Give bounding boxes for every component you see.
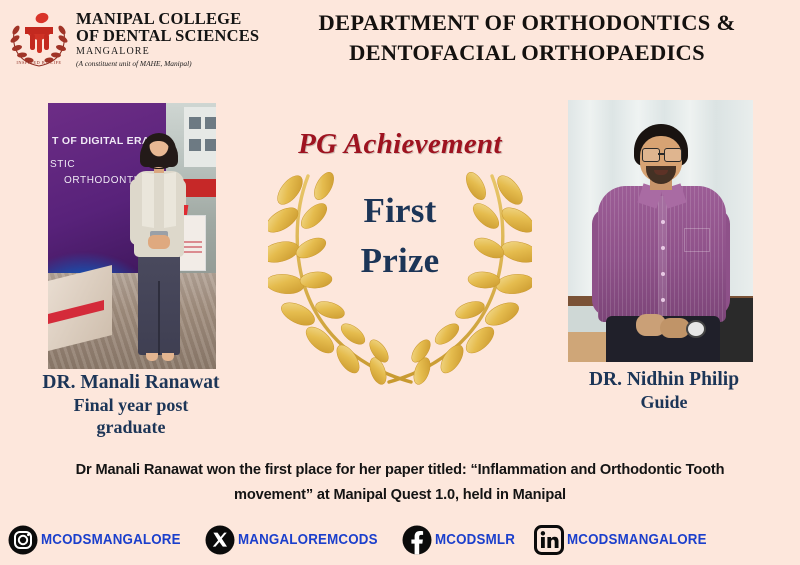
caption-right-name: DR. Nidhin Philip bbox=[528, 368, 800, 392]
person-shirt-button bbox=[661, 272, 665, 276]
description-line-1: Dr Manali Ranawat won the first place fo… bbox=[10, 458, 790, 483]
social-item-x-twitter[interactable]: MANGALOREMCODS bbox=[205, 525, 390, 555]
first-prize-label: First Prize bbox=[288, 186, 512, 285]
achievement-description: Dr Manali Ranawat won the first place fo… bbox=[10, 458, 790, 508]
instagram-icon[interactable] bbox=[8, 525, 38, 555]
linkedin-icon[interactable] bbox=[534, 525, 564, 555]
caption-right-role-line-1: Guide bbox=[528, 392, 800, 414]
person-foot-left bbox=[146, 353, 158, 361]
photo-person-nidhin bbox=[588, 124, 736, 362]
person-shirt-button bbox=[661, 298, 665, 302]
caption-left-name: DR. Manali Ranawat bbox=[0, 371, 262, 395]
caption-nidhin-philip: DR. Nidhin Philip Guide bbox=[528, 368, 800, 414]
manipal-crest-logo-icon: INSPIRED BY LIFE bbox=[8, 8, 70, 70]
eyeglasses-right-lens-icon bbox=[664, 148, 682, 162]
person-shirt-pocket bbox=[684, 228, 710, 252]
facebook-icon[interactable] bbox=[402, 525, 432, 555]
logo-line-4: (A constituent unit of MAHE, Manipal) bbox=[76, 59, 259, 69]
person-shirt-button bbox=[661, 246, 665, 250]
person-shirt-button bbox=[661, 220, 665, 224]
person-shirt-placket bbox=[658, 196, 667, 322]
photo-person-manali bbox=[120, 131, 196, 369]
poster-header: INSPIRED BY LIFE MANIPAL COLLEGE OF DENT… bbox=[0, 0, 800, 92]
wristwatch-icon bbox=[686, 320, 706, 338]
person-trouser-seam bbox=[158, 281, 160, 355]
person-hair-front bbox=[140, 137, 178, 167]
institution-name-text: MANIPAL COLLEGE OF DENTAL SCIENCES MANGA… bbox=[76, 6, 259, 69]
caption-left-role-line-1: Final year post bbox=[0, 395, 262, 417]
person-lapel-left bbox=[142, 172, 154, 228]
social-item-instagram[interactable]: MCODSMANGALORE bbox=[8, 525, 193, 555]
facebook-handle[interactable]: MCODSMLR bbox=[435, 532, 515, 548]
photo-nidhin-philip bbox=[568, 100, 753, 362]
pg-achievement-heading: PG Achievement bbox=[255, 128, 545, 161]
department-title: DEPARTMENT OF ORTHODONTICS & DENTOFACIAL… bbox=[262, 8, 792, 69]
institution-logo-block: INSPIRED BY LIFE MANIPAL COLLEGE OF DENT… bbox=[8, 6, 258, 84]
person-lapel-right bbox=[164, 172, 176, 228]
description-line-2: movement” at Manipal Quest 1.0, held in … bbox=[10, 483, 790, 508]
eyeglasses-left-lens-icon bbox=[642, 148, 660, 162]
caption-manali-ranawat: DR. Manali Ranawat Final year post gradu… bbox=[0, 371, 262, 439]
instagram-handle[interactable]: MCODSMANGALORE bbox=[41, 532, 181, 548]
prize-line-1: First bbox=[288, 186, 512, 236]
photo-manali-ranawat: T OF DIGITAL ERA STIC ORTHODONTIA bbox=[48, 103, 216, 369]
social-media-bar: MCODSMANGALORE MANGALOREMCODS MCODSMLR bbox=[8, 521, 792, 559]
linkedin-handle[interactable]: MCODSMANGALORE bbox=[567, 532, 707, 548]
person-hands bbox=[148, 235, 170, 249]
social-item-facebook[interactable]: MCODSMLR bbox=[402, 525, 522, 555]
poster-canvas: INSPIRED BY LIFE MANIPAL COLLEGE OF DENT… bbox=[0, 0, 800, 565]
x-twitter-handle[interactable]: MANGALOREMCODS bbox=[238, 532, 378, 548]
svg-text:INSPIRED BY LIFE: INSPIRED BY LIFE bbox=[16, 60, 61, 65]
eyeglasses-bridge-icon bbox=[658, 153, 664, 155]
department-title-line-1: DEPARTMENT OF ORTHODONTICS & bbox=[262, 8, 792, 38]
prize-line-2: Prize bbox=[288, 236, 512, 286]
x-twitter-icon[interactable] bbox=[205, 525, 235, 555]
banner-text-line-2: STIC bbox=[50, 159, 75, 170]
caption-left-role-line-2: graduate bbox=[0, 417, 262, 439]
logo-line-2: OF DENTAL SCIENCES bbox=[76, 27, 259, 44]
person-foot-right bbox=[162, 353, 174, 361]
department-title-line-2: DENTOFACIAL ORTHOPAEDICS bbox=[262, 38, 792, 68]
logo-line-3: MANGALORE bbox=[76, 44, 259, 59]
logo-line-1: MANIPAL COLLEGE bbox=[76, 10, 259, 27]
social-item-linkedin[interactable]: MCODSMANGALORE bbox=[534, 525, 719, 555]
